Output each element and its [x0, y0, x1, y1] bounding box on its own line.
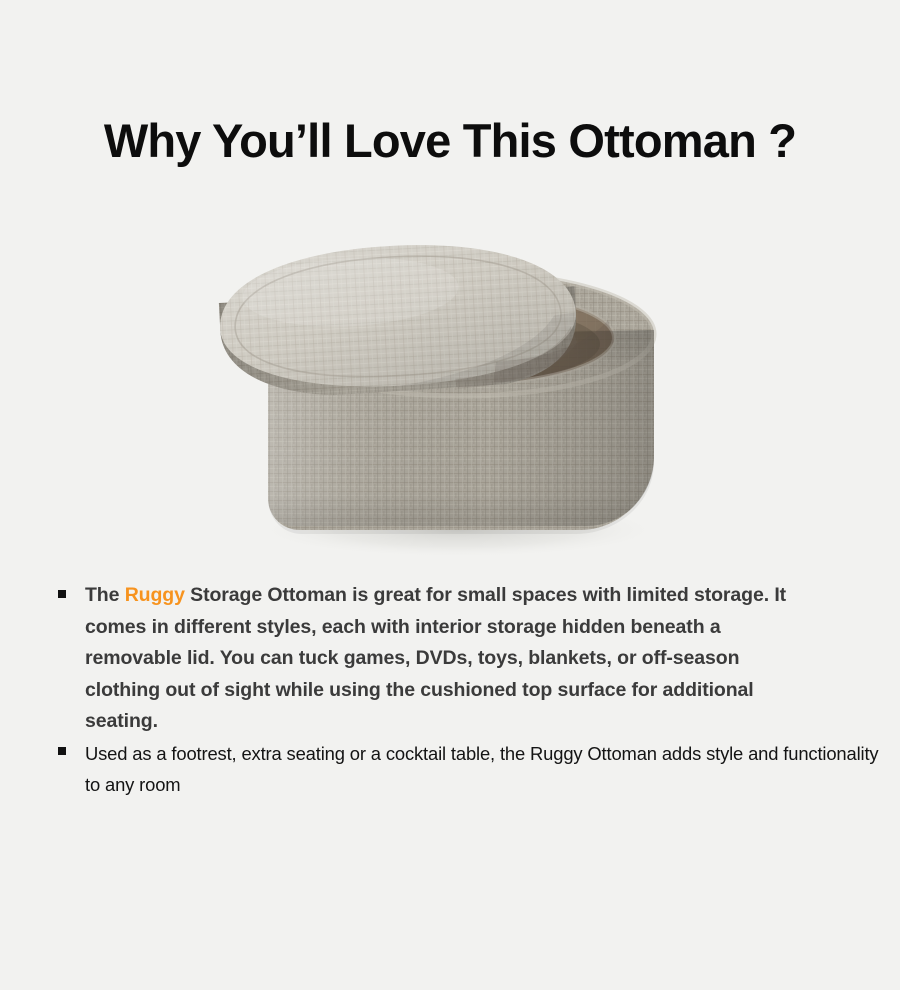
square-bullet-icon — [58, 747, 66, 755]
list-item: The Ruggy Storage Ottoman is great for s… — [56, 580, 876, 738]
feature-list: The Ruggy Storage Ottoman is great for s… — [56, 580, 876, 800]
page-title: Why You’ll Love This Ottoman ? — [0, 112, 900, 170]
product-feature-page: Why You’ll Love This Ottoman ? — [0, 0, 900, 990]
brand-name: Ruggy — [125, 584, 185, 606]
product-image — [196, 212, 676, 580]
bullet-two-text: Used as a footrest, extra seating or a c… — [85, 738, 885, 800]
bullet-one-body: Storage Ottoman is great for small space… — [85, 584, 786, 732]
bullet-one-text: The Ruggy Storage Ottoman is great for s… — [85, 580, 797, 738]
bullet-one-lead: The — [85, 584, 125, 606]
square-bullet-icon — [58, 590, 66, 598]
list-item: Used as a footrest, extra seating or a c… — [56, 738, 876, 800]
ottoman-illustration — [196, 212, 676, 580]
